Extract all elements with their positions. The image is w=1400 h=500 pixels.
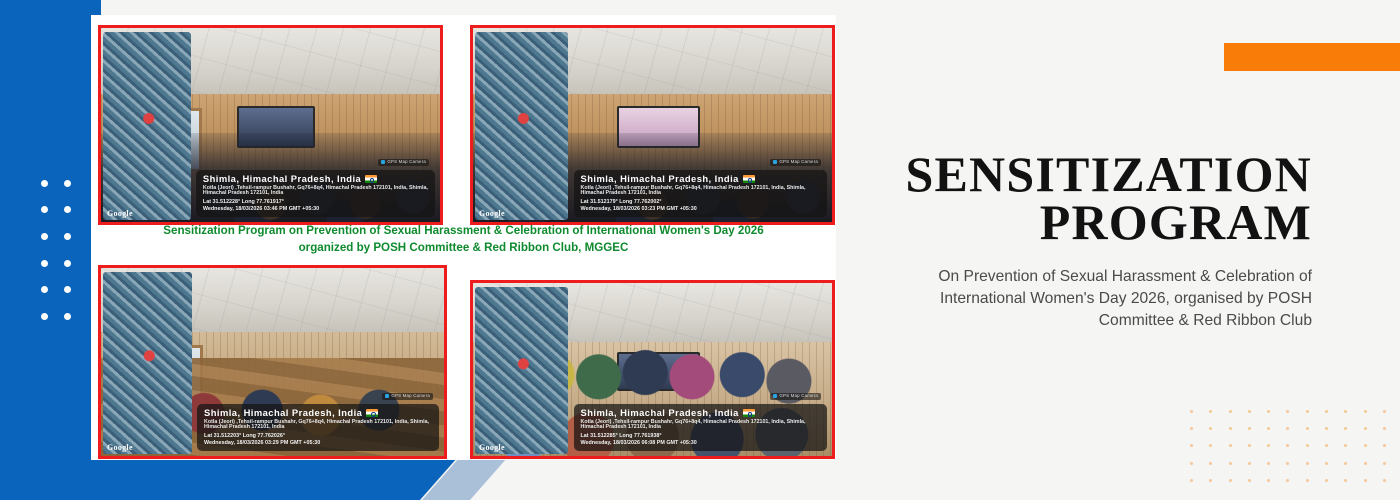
title-line-2: PROGRAM	[1040, 194, 1312, 250]
gps-map-camera-badge: GPS Map Camera	[770, 159, 821, 166]
google-logo-label: Google	[107, 443, 133, 452]
watermark-coordinates: Lat 31.512285° Long 77.761938°	[581, 433, 821, 439]
gps-map-camera-badge: GPS Map Camera	[382, 393, 433, 400]
gps-watermark: GPS Map Camera Shimla, Himachal Pradesh,…	[574, 404, 827, 451]
watermark-address: Kotla (Jeori) ,Tehsil-rampur Bushahr, Gq…	[581, 186, 821, 198]
watermark-address: Kotla (Jeori) ,Tehsil-rampur Bushahr, Gq…	[203, 186, 429, 198]
photo-collage-panel: Google GPS Map Camera Shimla, Himachal P…	[91, 15, 836, 460]
headline-block: SENSITIZATION PROGRAM On Prevention of S…	[880, 150, 1312, 332]
google-map-thumbnail: Google	[475, 287, 568, 454]
photo-auditorium-hall: Google GPS Map Camera Shimla, Himachal P…	[98, 265, 447, 459]
india-flag-icon	[365, 175, 377, 183]
caption-line-1: Sensitization Program on Prevention of S…	[98, 223, 829, 240]
google-map-thumbnail: Google	[103, 272, 192, 454]
poster-canvas: Google GPS Map Camera Shimla, Himachal P…	[0, 0, 1400, 500]
watermark-address: Kotla (Jeori) ,Tehsil-rampur Bushahr, Gq…	[204, 420, 433, 432]
right-dot-grid-decoration	[1182, 403, 1394, 489]
watermark-coordinates: Lat 31.512203° Long 77.762026°	[204, 433, 433, 439]
gps-badge-icon	[773, 160, 777, 164]
collage-caption: Sensitization Program on Prevention of S…	[98, 223, 829, 257]
gps-watermark: GPS Map Camera Shimla, Himachal Pradesh,…	[574, 170, 827, 217]
watermark-timestamp: Wednesday, 18/03/2026 03:23 PM GMT +05:3…	[581, 206, 821, 212]
photo-seminar-audience: Google GPS Map Camera Shimla, Himachal P…	[470, 25, 835, 225]
google-logo-label: Google	[479, 209, 505, 218]
photo-classroom-presentation: Google GPS Map Camera Shimla, Himachal P…	[98, 25, 443, 225]
gps-watermark: GPS Map Camera Shimla, Himachal Pradesh,…	[197, 404, 439, 451]
google-logo-label: Google	[107, 209, 133, 218]
watermark-coordinates: Lat 31.512179° Long 77.762002°	[581, 199, 821, 205]
page-title: SENSITIZATION PROGRAM	[880, 150, 1312, 246]
watermark-city: Shimla, Himachal Pradesh, India	[581, 174, 821, 185]
orange-accent-bar	[1224, 43, 1400, 71]
left-dot-grid-decoration	[33, 170, 79, 330]
google-map-thumbnail: Google	[475, 32, 568, 220]
india-flag-icon	[366, 409, 378, 417]
watermark-city: Shimla, Himachal Pradesh, India	[581, 408, 821, 419]
watermark-timestamp: Wednesday, 18/03/2026 03:46 PM GMT +05:3…	[203, 206, 429, 212]
gps-badge-icon	[773, 394, 777, 398]
watermark-timestamp: Wednesday, 18/03/2026 06:08 PM GMT +05:3…	[581, 440, 821, 446]
watermark-coordinates: Lat 31.512228° Long 77.761917°	[203, 199, 429, 205]
google-logo-label: Google	[479, 443, 505, 452]
gps-watermark: GPS Map Camera Shimla, Himachal Pradesh,…	[196, 170, 435, 217]
india-flag-icon	[743, 175, 755, 183]
gps-badge-icon	[385, 394, 389, 398]
watermark-address: Kotla (Jeori) ,Tehsil-rampur Bushahr, Gq…	[581, 420, 821, 432]
gps-badge-icon	[381, 160, 385, 164]
caption-line-2: organized by POSH Committee & Red Ribbon…	[98, 240, 829, 257]
watermark-city: Shimla, Himachal Pradesh, India	[204, 408, 433, 419]
google-map-thumbnail: Google	[103, 32, 191, 220]
india-flag-icon	[743, 409, 755, 417]
gps-map-camera-badge: GPS Map Camera	[770, 393, 821, 400]
watermark-timestamp: Wednesday, 18/03/2026 03:29 PM GMT +05:3…	[204, 440, 433, 446]
gps-map-camera-badge: GPS Map Camera	[378, 159, 429, 166]
watermark-city: Shimla, Himachal Pradesh, India	[203, 174, 429, 185]
photo-group-photograph: Google GPS Map Camera Shimla, Himachal P…	[470, 280, 835, 459]
page-subtitle: On Prevention of Sexual Harassment & Cel…	[880, 266, 1312, 332]
